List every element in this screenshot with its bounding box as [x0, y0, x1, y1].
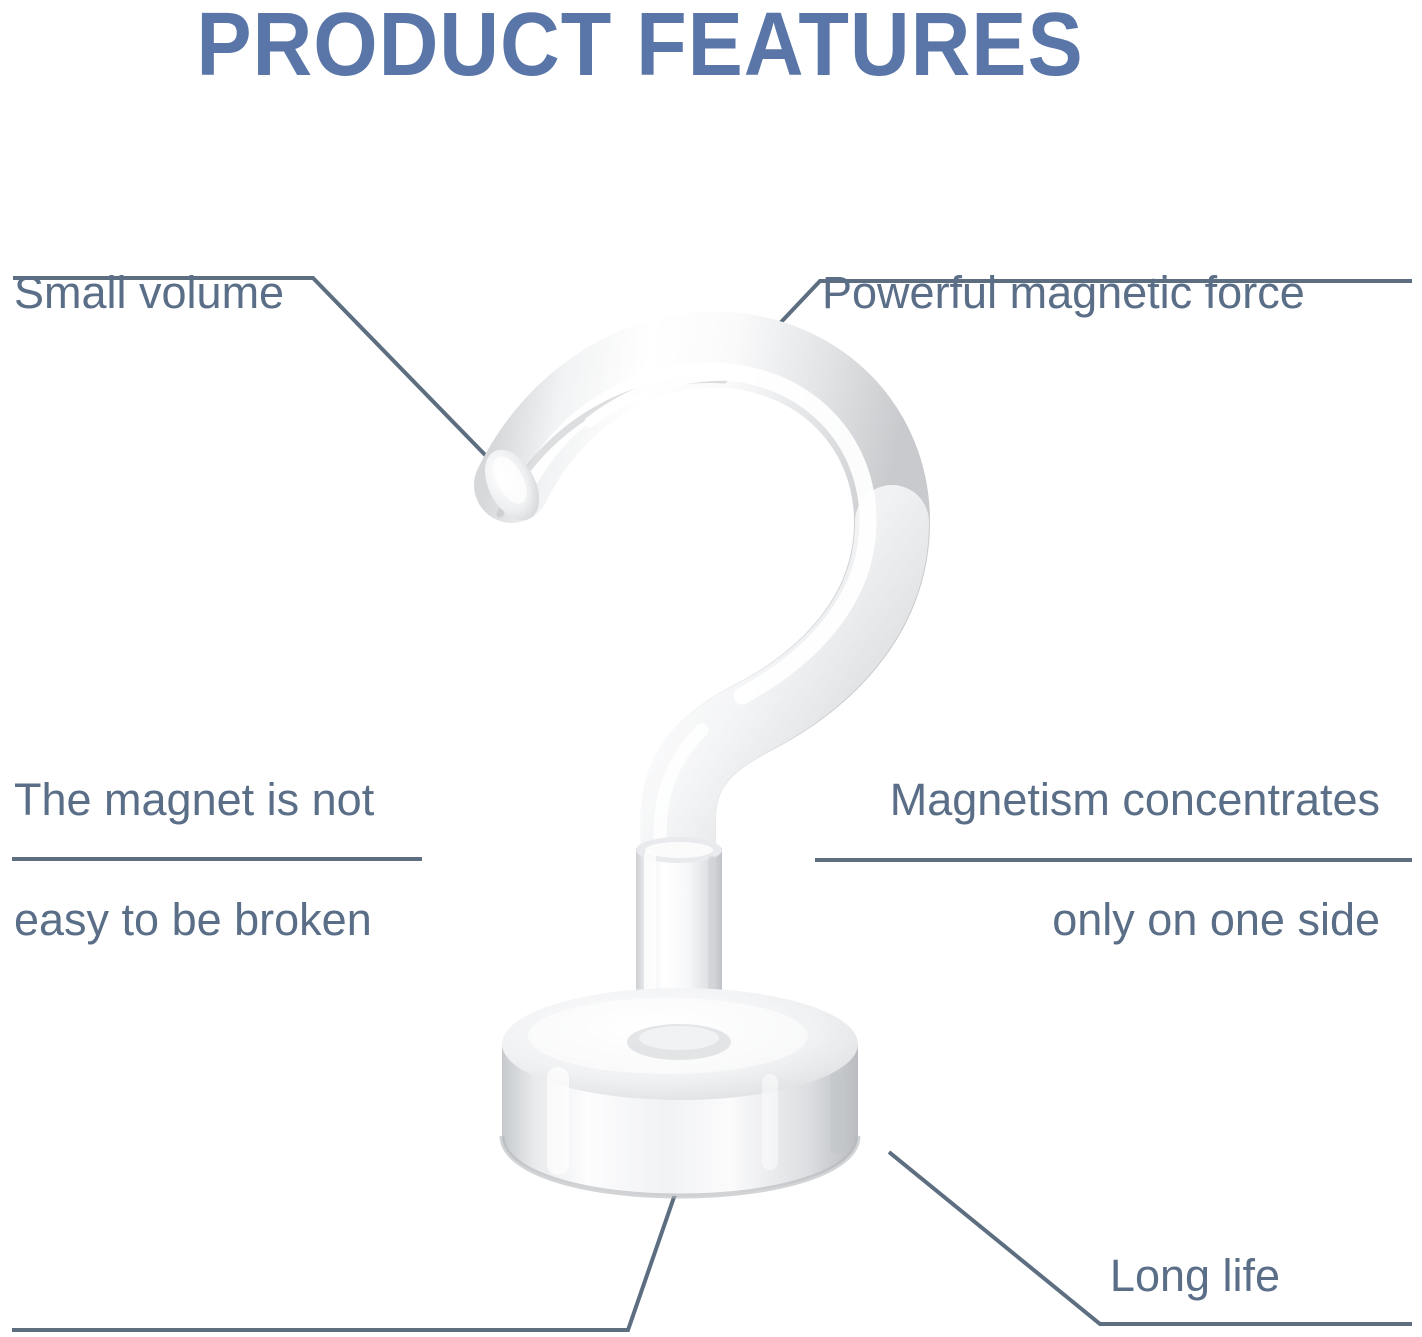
feature-label-permanent-force: Permanent magnetic force [14, 1272, 542, 1337]
page-title: PRODUCT FEATURES [51, 0, 1229, 90]
feature-text-line2: easy to be broken [14, 890, 374, 950]
feature-label-powerful-force: Powerful magnetic force [822, 203, 1305, 383]
feature-text: Permanent magnetic force [14, 1332, 542, 1337]
magnet-base [502, 988, 858, 1196]
feature-text-line1: The magnet is not [14, 770, 374, 830]
feature-label-small-volume: Small volume [14, 203, 284, 383]
feature-text-line1: Long life [1010, 1246, 1380, 1306]
feature-text: Small volume [14, 263, 284, 323]
infographic-canvas: PRODUCT FEATURES [0, 0, 1422, 1337]
feature-label-not-broken: The magnet is not easy to be broken [14, 710, 374, 1010]
feature-text-line1: Magnetism concentrates [812, 770, 1380, 830]
feature-label-long-life: Long life Attractive [1010, 1186, 1380, 1337]
feature-text-line2: only on one side [812, 890, 1380, 950]
feature-text: Powerful magnetic force [822, 263, 1305, 323]
feature-label-one-side: Magnetism concentrates only on one side [812, 710, 1380, 1010]
